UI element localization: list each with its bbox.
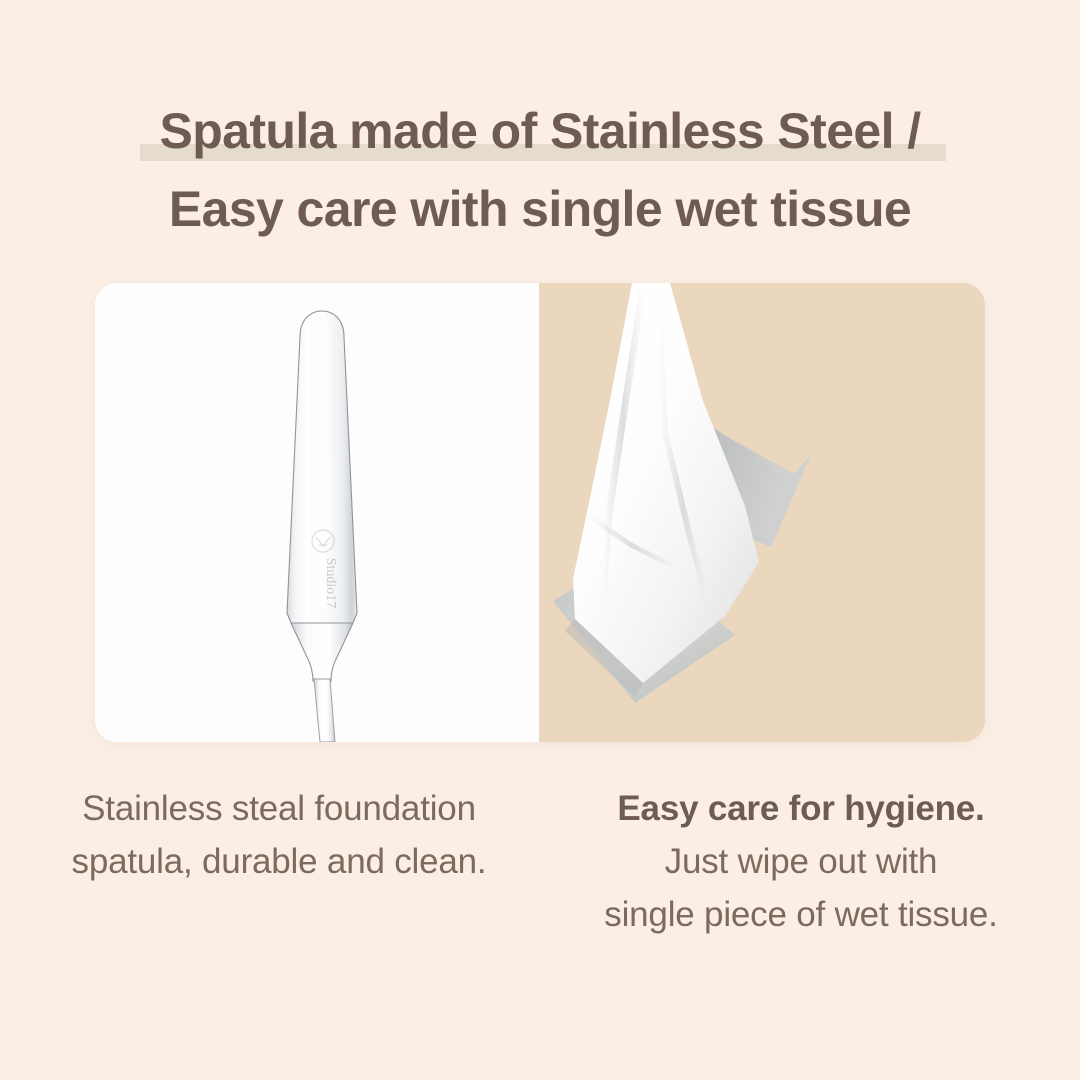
caption-right-line-2: Just wipe out with <box>558 835 1044 888</box>
wet-tissue-image-panel <box>539 283 985 742</box>
caption-right: Easy care for hygiene. Just wipe out wit… <box>540 782 1080 941</box>
spatula-illustration: Studio17 <box>95 283 539 742</box>
caption-left-line-2: spatula, durable and clean. <box>36 835 522 888</box>
caption-left: Stainless steal foundation spatula, dura… <box>0 782 540 941</box>
engraved-brand-text: Studio17 <box>323 558 338 609</box>
feature-image-card: Studio17 <box>95 283 985 742</box>
spatula-neck <box>291 623 353 681</box>
tissue-front-face <box>573 283 759 683</box>
caption-right-line-1: Easy care for hygiene. <box>558 782 1044 835</box>
headline-line-1-text: Spatula made of Stainless Steel / <box>159 103 920 159</box>
caption-left-line-1: Stainless steal foundation <box>36 782 522 835</box>
caption-row: Stainless steal foundation spatula, dura… <box>0 782 1080 941</box>
wet-tissue-illustration <box>539 283 985 742</box>
page-title: Spatula made of Stainless Steel / Easy c… <box>0 92 1080 248</box>
spatula-image-panel: Studio17 <box>95 283 539 742</box>
caption-right-line-3: single piece of wet tissue. <box>558 888 1044 941</box>
headline-line-1: Spatula made of Stainless Steel / <box>0 92 1080 170</box>
spatula-handle <box>314 679 335 742</box>
headline-line-2: Easy care with single wet tissue <box>0 170 1080 248</box>
headline-line-2-text: Easy care with single wet tissue <box>169 181 911 237</box>
